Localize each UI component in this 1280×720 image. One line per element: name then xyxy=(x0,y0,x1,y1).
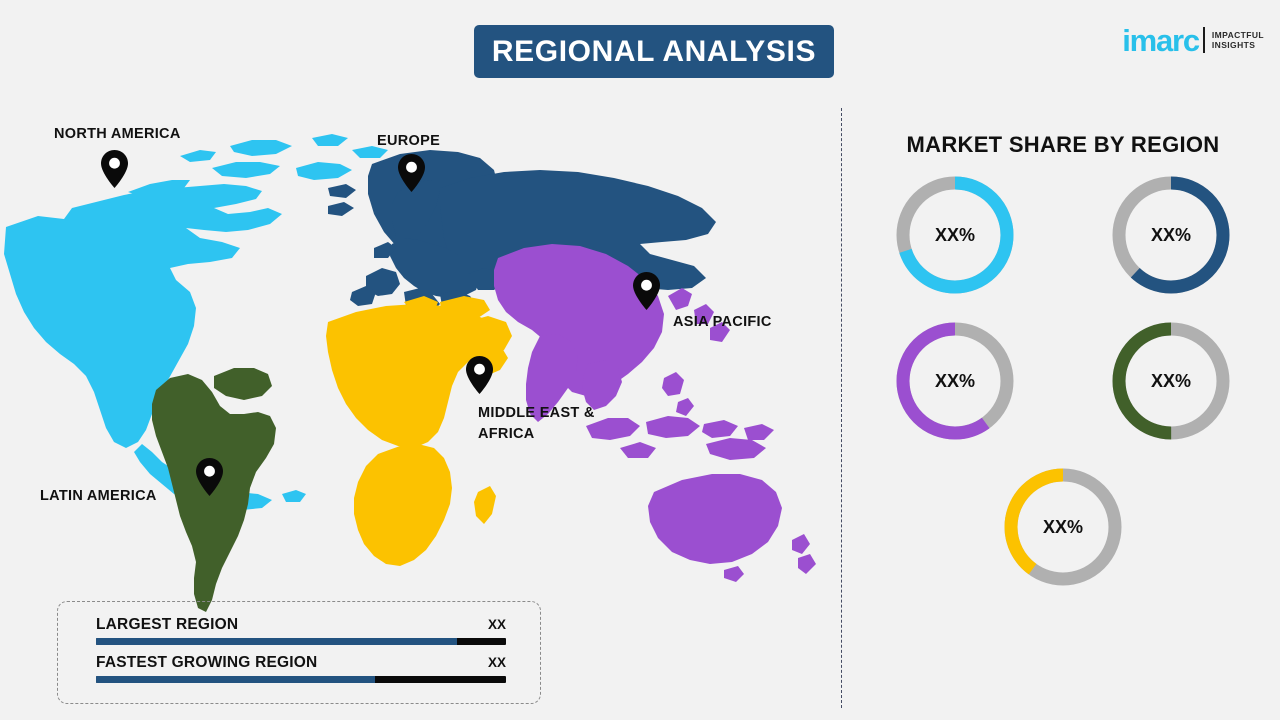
logo-wordmark: imarc xyxy=(1122,25,1199,56)
donut-row-2: XX% XX% xyxy=(846,316,1280,446)
map-label-asia-pacific: ASIA PACIFIC xyxy=(673,312,772,333)
map-pin-asia-pacific-icon[interactable] xyxy=(633,272,660,310)
donut-label-latin-america: XX% xyxy=(1106,316,1236,446)
panel-divider xyxy=(841,108,842,708)
donut-chart-middle-east-africa[interactable]: XX% xyxy=(998,462,1128,592)
donut-chart-europe[interactable]: XX% xyxy=(1106,170,1236,300)
legend-progress-bar-largest-region xyxy=(96,638,506,645)
page-title: REGIONAL ANALYSIS xyxy=(492,35,816,69)
map-label-latin-america: LATIN AMERICA xyxy=(40,486,157,507)
logo-tagline-line-1: IMPACTFUL xyxy=(1212,30,1264,40)
logo-divider xyxy=(1203,27,1205,53)
legend-row-largest-region: LARGEST REGION XX xyxy=(96,616,506,645)
donut-chart-latin-america[interactable]: XX% xyxy=(1106,316,1236,446)
legend-progress-fill-largest-region xyxy=(96,638,457,645)
legend-value-largest-region: XX xyxy=(488,617,506,632)
legend-progress-bar-fastest-growing-region xyxy=(96,676,506,683)
market-share-panel: MARKET SHARE BY REGION XX% XX% xyxy=(846,96,1280,696)
donut-chart-north-america[interactable]: XX% xyxy=(890,170,1020,300)
chart-title: MARKET SHARE BY REGION xyxy=(846,132,1280,158)
map-label-north-america: NORTH AMERICA xyxy=(54,124,181,145)
donut-row-3: XX% xyxy=(846,462,1280,592)
donut-chart-grid: XX% XX% XX% xyxy=(846,170,1280,608)
map-pin-north-america-icon[interactable] xyxy=(101,150,128,188)
map-label-europe: EUROPE xyxy=(377,131,440,152)
logo-tagline-line-2: INSIGHTS xyxy=(1212,40,1264,50)
legend-row-fastest-growing-region: FASTEST GROWING REGION XX xyxy=(96,654,506,683)
map-pin-middle-east-africa-icon[interactable] xyxy=(466,356,493,394)
donut-label-north-america: XX% xyxy=(890,170,1020,300)
map-pin-latin-america-icon[interactable] xyxy=(196,458,223,496)
legend-value-fastest-growing-region: XX xyxy=(488,655,506,670)
regional-analysis-infographic: REGIONAL ANALYSIS imarc IMPACTFUL INSIGH… xyxy=(0,0,1280,720)
region-ranking-legend: LARGEST REGION XX FASTEST GROWING REGION… xyxy=(57,601,541,704)
donut-chart-asia-pacific[interactable]: XX% xyxy=(890,316,1020,446)
map-pin-europe-icon[interactable] xyxy=(398,154,425,192)
legend-label-fastest-growing-region: FASTEST GROWING REGION xyxy=(96,654,317,672)
legend-label-largest-region: LARGEST REGION xyxy=(96,616,238,634)
page-title-banner: REGIONAL ANALYSIS xyxy=(474,25,834,78)
donut-row-1: XX% XX% xyxy=(846,170,1280,300)
donut-label-asia-pacific: XX% xyxy=(890,316,1020,446)
imarc-logo: imarc IMPACTFUL INSIGHTS xyxy=(1122,22,1264,58)
donut-label-middle-east-africa: XX% xyxy=(998,462,1128,592)
logo-tagline: IMPACTFUL INSIGHTS xyxy=(1212,30,1264,50)
map-label-middle-east-africa: MIDDLE EAST & AFRICA xyxy=(478,403,595,445)
legend-progress-fill-fastest-growing-region xyxy=(96,676,375,683)
world-map-panel: NORTH AMERICA EUROPE ASIA PACIFIC MIDDLE… xyxy=(0,96,838,656)
donut-label-europe: XX% xyxy=(1106,170,1236,300)
